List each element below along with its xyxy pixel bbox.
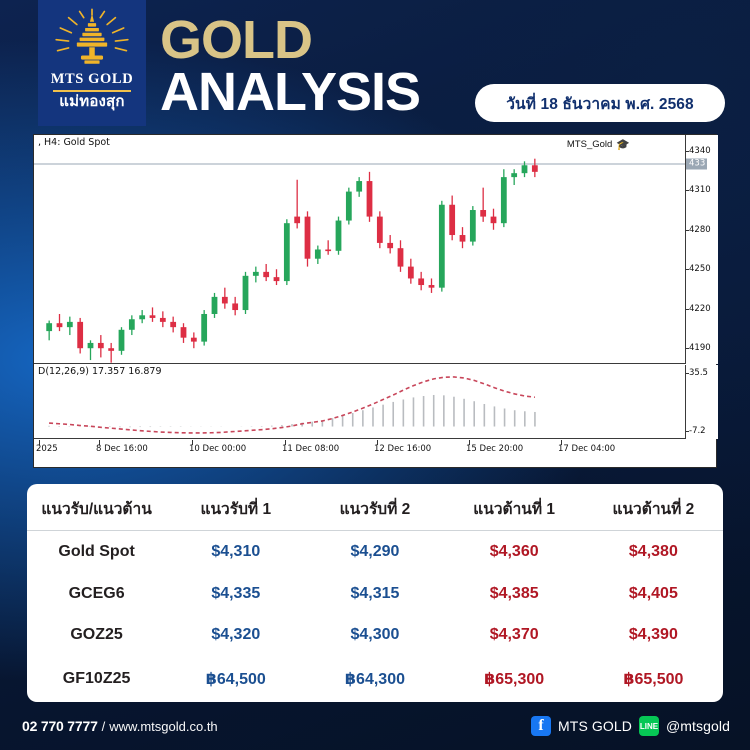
time-tick-label: 12 Dec 16:00 [374, 444, 431, 454]
table-row: Gold Spot$4,310$4,290$4,360$4,380 [27, 531, 723, 574]
time-tick-label: 11 Dec 08:00 [282, 444, 339, 454]
candle [418, 272, 424, 290]
time-tick-label: 8 Dec 16:00 [96, 444, 148, 454]
table-row: GCEG6$4,335$4,315$4,385$4,405 [27, 573, 723, 614]
candle [491, 209, 497, 230]
candle [274, 269, 280, 285]
separator: / [102, 719, 106, 734]
instrument-name: Gold Spot [27, 531, 166, 574]
price-tick: 4190 [686, 343, 711, 353]
candle [284, 219, 290, 285]
candle [470, 206, 476, 245]
price-axis: 434043104280425042204190433 [685, 135, 718, 364]
price-tick: 4280 [686, 225, 711, 235]
price-tick: 4340 [686, 146, 711, 156]
price-tick: 4220 [686, 304, 711, 314]
macd-label: D(12,26,9) 17.357 16.879 [38, 366, 162, 377]
col-header-resistance-1: แนวต้านที่ 1 [445, 484, 584, 531]
candle [160, 311, 166, 327]
candle [367, 172, 373, 222]
title-analysis: ANALYSIS [160, 67, 420, 118]
phone-number: 02 770 7777 [22, 718, 98, 734]
facebook-label[interactable]: MTS GOLD [558, 718, 632, 734]
support-2-value: $4,315 [305, 573, 444, 614]
levels-table: แนวรับ/แนวต้าน แนวรับที่ 1 แนวรับที่ 2 แ… [27, 484, 723, 702]
candlestick-series [34, 135, 685, 364]
time-tick-label: 15 Dec 20:00 [466, 444, 523, 454]
candle [170, 317, 176, 333]
instrument-name: GCEG6 [27, 573, 166, 614]
candle [511, 169, 517, 185]
candle [191, 332, 197, 348]
resistance-1-value: $4,360 [445, 531, 584, 574]
candle [232, 297, 238, 315]
candle [325, 240, 331, 254]
support-2-value: ฿64,300 [305, 656, 444, 702]
candle [449, 196, 455, 241]
macd-pane: D(12,26,9) 17.357 16.879 [34, 365, 685, 439]
candle [532, 159, 538, 177]
candle [222, 288, 228, 309]
support-1-value: $4,320 [166, 615, 305, 656]
candle [408, 259, 414, 284]
brand-logo: MTS GOLD แม่ทองสุก [38, 0, 146, 126]
table-row: GOZ25$4,320$4,300$4,370$4,390 [27, 615, 723, 656]
resistance-2-value: $4,380 [584, 531, 723, 574]
candle [129, 315, 135, 335]
resistance-2-value: $4,405 [584, 573, 723, 614]
candle [243, 272, 249, 314]
macd-tick: -7.2 [686, 426, 706, 436]
time-tick-label: 10 Dec 00:00 [189, 444, 246, 454]
price-chart-panel[interactable]: , H4: Gold Spot MTS_Gold 🎓 D(12,26,9) 17… [33, 134, 717, 468]
website-url[interactable]: www.mtsgold.co.th [109, 719, 217, 734]
candle [294, 180, 300, 229]
logo-name-th: แม่ทองสุก [59, 94, 124, 110]
candlestick-pane [34, 135, 685, 364]
title-gold: GOLD [160, 16, 420, 66]
gold-analysis-infographic: MTS GOLD แม่ทองสุก GOLD ANALYSIS วันที่ … [0, 0, 750, 750]
candle [150, 307, 156, 321]
candle [263, 264, 269, 281]
candle [212, 293, 218, 318]
page-title: GOLD ANALYSIS [160, 16, 420, 117]
candle [119, 327, 125, 355]
candle [77, 318, 83, 354]
candle [57, 314, 63, 331]
col-header-resistance-2: แนวต้านที่ 2 [584, 484, 723, 531]
candle [46, 321, 52, 341]
col-header-category: แนวรับ/แนวต้าน [27, 484, 166, 531]
table-header-row: แนวรับ/แนวต้าน แนวรับที่ 1 แนวรับที่ 2 แ… [27, 484, 723, 531]
support-2-value: $4,300 [305, 615, 444, 656]
current-price-tag: 433 [686, 158, 707, 169]
header: MTS GOLD แม่ทองสุก GOLD ANALYSIS วันที่ … [0, 0, 750, 132]
support-resistance-card: แนวรับ/แนวต้าน แนวรับที่ 1 แนวรับที่ 2 แ… [27, 484, 723, 702]
resistance-2-value: ฿65,500 [584, 656, 723, 702]
candle [439, 201, 445, 292]
col-header-support-2: แนวรับที่ 2 [305, 484, 444, 531]
col-header-support-1: แนวรับที่ 1 [166, 484, 305, 531]
social-links: f MTS GOLD LINE @mtsgold [531, 716, 730, 736]
facebook-icon[interactable]: f [531, 716, 551, 736]
line-label[interactable]: @mtsgold [666, 718, 730, 734]
support-1-value: $4,335 [166, 573, 305, 614]
candle [460, 227, 466, 248]
candle [67, 317, 73, 335]
support-1-value: ฿64,500 [166, 656, 305, 702]
candle [253, 267, 259, 283]
candle [108, 343, 114, 363]
price-tick: 4250 [686, 264, 711, 274]
date-badge: วันที่ 18 ธันวาคม พ.ศ. 2568 [475, 84, 725, 122]
candle [336, 217, 342, 255]
footer: 02 770 7777 / www.mtsgold.co.th f MTS GO… [0, 702, 750, 750]
pagoda-icon [50, 8, 134, 70]
candle [346, 188, 352, 225]
candle [88, 340, 94, 360]
support-1-value: $4,310 [166, 531, 305, 574]
candle [139, 310, 145, 323]
logo-divider [53, 90, 131, 92]
macd-axis: 35.5-7.2 [685, 365, 718, 439]
time-axis: 20258 Dec 16:0010 Dec 00:0011 Dec 08:001… [34, 440, 685, 468]
candle [356, 177, 362, 197]
contact-info: 02 770 7777 / www.mtsgold.co.th [22, 718, 218, 734]
price-tick: 4310 [686, 185, 711, 195]
candle [429, 278, 435, 292]
candle [305, 211, 311, 266]
instrument-name: GOZ25 [27, 615, 166, 656]
candle [501, 169, 507, 227]
candle [398, 240, 404, 272]
candle [315, 246, 321, 264]
macd-tick: 35.5 [686, 368, 708, 378]
line-icon[interactable]: LINE [639, 716, 659, 736]
resistance-2-value: $4,390 [584, 615, 723, 656]
logo-name-en: MTS GOLD [51, 72, 134, 87]
resistance-1-value: $4,385 [445, 573, 584, 614]
resistance-1-value: $4,370 [445, 615, 584, 656]
table-row: GF10Z25฿64,500฿64,300฿65,300฿65,500 [27, 656, 723, 702]
resistance-1-value: ฿65,300 [445, 656, 584, 702]
time-tick-label: 2025 [36, 444, 58, 454]
candle [387, 235, 393, 253]
candle [377, 211, 383, 248]
instrument-name: GF10Z25 [27, 656, 166, 702]
candle [98, 335, 104, 357]
support-2-value: $4,290 [305, 531, 444, 574]
candle [181, 323, 187, 343]
candle [480, 188, 486, 222]
time-tick-label: 17 Dec 04:00 [558, 444, 615, 454]
candle [201, 310, 207, 346]
